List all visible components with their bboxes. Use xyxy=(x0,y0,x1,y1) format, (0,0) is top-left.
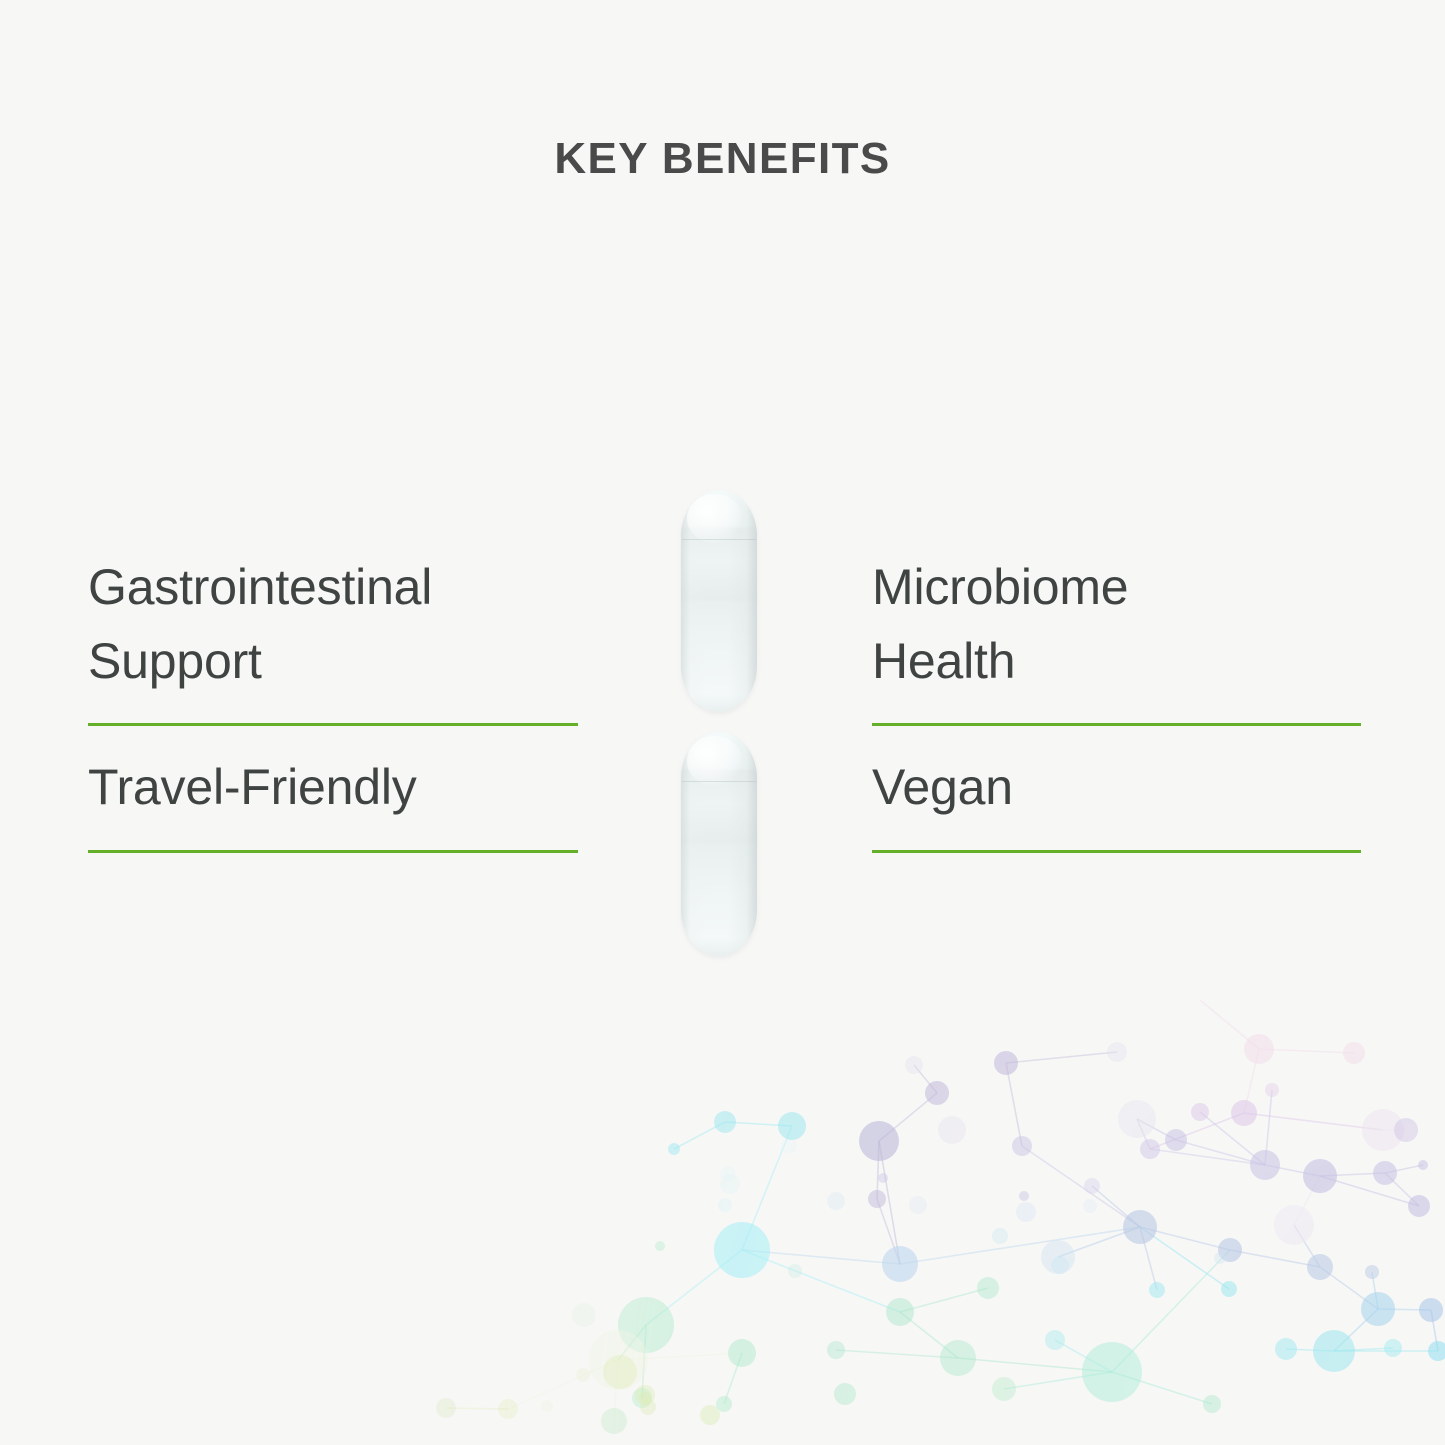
benefit-label: Microbiome Health xyxy=(872,548,1361,698)
benefit-label: Gastrointestinal Support xyxy=(88,548,578,698)
benefit-column-left: Gastrointestinal Support Travel-Friendly xyxy=(88,548,578,853)
benefit-label: Vegan xyxy=(872,726,1361,824)
page-title: KEY BENEFITS xyxy=(0,135,1445,183)
molecule-nodes xyxy=(436,1034,1445,1434)
benefit-item-gastrointestinal-support: Gastrointestinal Support xyxy=(88,548,578,726)
capsule-image-bottom xyxy=(681,732,757,956)
benefit-item-travel-friendly: Travel-Friendly xyxy=(88,726,578,853)
benefit-label: Travel-Friendly xyxy=(88,726,578,824)
benefit-column-right: Microbiome Health Vegan xyxy=(872,548,1361,853)
benefit-item-microbiome-health: Microbiome Health xyxy=(872,548,1361,726)
molecule-edges xyxy=(446,1000,1438,1421)
benefit-item-vegan: Vegan xyxy=(872,726,1361,853)
capsule-image-top xyxy=(681,490,757,712)
benefit-divider xyxy=(88,850,578,853)
key-benefits-panel: KEY BENEFITS Gastrointestinal Support Tr… xyxy=(0,0,1445,1445)
benefit-divider xyxy=(872,850,1361,853)
